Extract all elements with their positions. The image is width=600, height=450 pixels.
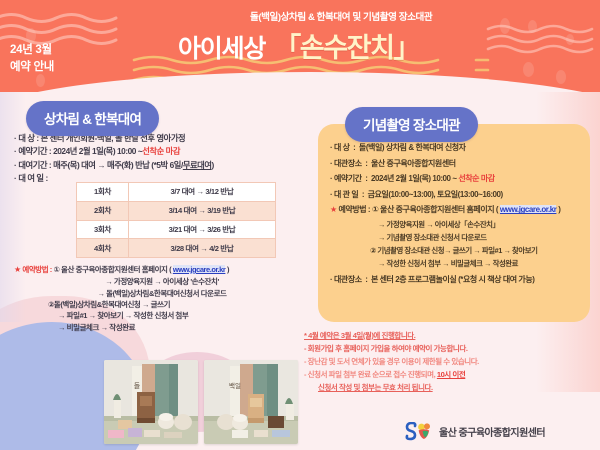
row-label: 대 여 일 bbox=[18, 172, 43, 185]
cell-session: 2회차 bbox=[77, 201, 129, 220]
title-brand: 아이세상 bbox=[178, 29, 265, 65]
row-label: 대 상 bbox=[18, 132, 34, 145]
row-value: 금요일(10:00~13:00), 토요일(13:00~16:00) bbox=[368, 190, 503, 199]
homepage-link[interactable]: www.jgcare.or.kr bbox=[500, 205, 557, 214]
method-step1-pre: ① 울산 중구육아종합지원센터 홈페이지 ( bbox=[372, 205, 498, 214]
method-header-line: ★ 예약방법 : ① 울산 중구육아종합지원센터 홈페이지 ( www.jgca… bbox=[330, 202, 588, 218]
row-sep: : bbox=[363, 275, 369, 284]
notice-list: * 4월 예약은 3월 4일(월)에 진행합니다. - 회원가입 후 홈페이지 … bbox=[304, 330, 594, 394]
decorative-wave-lines bbox=[486, 22, 600, 56]
decorative-dot bbox=[556, 70, 566, 84]
poster-subtitle: 돌(백일)상차림 & 한복대여 및 기념촬영 장소대관 bbox=[250, 9, 432, 23]
method-line: → 비밀글체크 → 작성완료 bbox=[14, 322, 310, 333]
cell-session: 4회차 bbox=[77, 239, 129, 258]
method-step1-post: ) bbox=[558, 205, 560, 214]
row-value: 2024년 2월 1일(목) 10:00 ~ bbox=[371, 174, 458, 183]
bullet-dot: · bbox=[14, 159, 16, 172]
notice-text: * 4월 예약은 3월 4일(월)에 진행합니다. bbox=[304, 331, 415, 340]
row-value-highlight: 선착순 마감 bbox=[142, 145, 180, 158]
photo-2-graphic: 백일 bbox=[204, 360, 298, 444]
cell-period: 3/14 대여 → 3/19 반납 bbox=[129, 201, 276, 220]
svg-text:돌: 돌 bbox=[134, 382, 141, 390]
row-value: 본 센터 2층 프로그램놀이실 (*요청 시 책상 대여 가능) bbox=[371, 275, 534, 284]
bullet-dot: · bbox=[14, 132, 16, 145]
date-line-1: 24년 3월 bbox=[10, 42, 54, 59]
left-panel-content: · 대 상 : 본 센터 개인회원-백일, 돌 한달 전후 영아가정 · 예약기… bbox=[14, 132, 310, 186]
notice-item: - 신청서 파일 첨부 완료 순으로 접수 진행되며, 10시 이전 bbox=[304, 369, 594, 382]
star-icon: ★ bbox=[14, 265, 21, 274]
bullet-dot: · bbox=[330, 143, 332, 152]
table-row: 1회차 3/7 대여 → 3/12 반납 bbox=[77, 183, 276, 202]
row-sep: : bbox=[360, 190, 366, 199]
method-line: → 파일#1 → 찾아보기 → 작성한 신청서 첨부 bbox=[14, 310, 310, 321]
row-value: 울산 중구육아종합지원센터 bbox=[371, 159, 456, 168]
bullet-dot: · bbox=[330, 174, 332, 183]
method-line: → 돌(백일)상차림&한복대여신청서 다운로드 bbox=[14, 288, 310, 299]
method-line: ② 기념촬영 장소대관 신청→ 글쓰기 → 파일#1 → 찾아보기 bbox=[330, 244, 588, 257]
bullet-dot: · bbox=[330, 190, 332, 199]
row-label: 대 관 일 bbox=[334, 190, 358, 199]
bullet-dot: · bbox=[14, 172, 16, 185]
decorative-tick-lines bbox=[474, 54, 490, 84]
bullet-dot: · bbox=[14, 145, 16, 158]
list-item: · 예약기간 : 2024년 2월 1일(목) 10:00 ~ 선착순 마감 bbox=[330, 171, 588, 187]
list-item: · 대여기간 : 매주(목) 대여 → 매주(화) 반납 (*5박 6일/ 무료… bbox=[14, 159, 310, 172]
date-line-2: 예약 안내 bbox=[10, 59, 54, 76]
notice-highlight: 10시 이전 bbox=[437, 370, 465, 379]
method-step1-pre: ① 울산 중구육아종합지원센터 홈페이지 ( bbox=[54, 265, 172, 274]
method-line: → 기념촬영 장소대관 신청서 다운로드 bbox=[330, 231, 588, 244]
star-icon: ★ bbox=[330, 205, 337, 214]
row-label: 대관장소 bbox=[334, 275, 362, 284]
notice-item: 신청서 작성 및 첨부는 무효 처리 됩니다. bbox=[304, 382, 594, 395]
row-sep: : bbox=[363, 159, 369, 168]
row-sep: : bbox=[44, 172, 50, 185]
photo-1-graphic: 돌 bbox=[104, 360, 198, 444]
center-name: 울산 중구육아종합지원센터 bbox=[439, 424, 545, 439]
svg-text:백일: 백일 bbox=[229, 381, 241, 390]
footer-logo: 울산 중구육아종합지원센터 bbox=[404, 422, 545, 441]
row-value-tail: ) bbox=[212, 159, 214, 172]
row-value-highlight: 선착순 마감 bbox=[458, 174, 494, 183]
row-sep: : bbox=[363, 174, 369, 183]
row-label: 대여기간 bbox=[18, 159, 47, 172]
date-block: 24년 3월 예약 안내 bbox=[10, 42, 54, 75]
rental-schedule-table: 1회차 3/7 대여 → 3/12 반납 2회차 3/14 대여 → 3/19 … bbox=[76, 182, 276, 258]
decorative-dot bbox=[523, 62, 534, 77]
row-value-underline: 무료대여 bbox=[183, 159, 212, 172]
title-program: 「손수잔치」 bbox=[274, 26, 419, 65]
poster-root: 24년 3월 예약 안내 돌(백일)상차림 & 한복대여 및 기념촬영 장소대관… bbox=[0, 0, 600, 450]
cell-period: 3/28 대여 → 4/2 반납 bbox=[129, 239, 276, 258]
cell-period: 3/21 대여 → 3/26 반납 bbox=[129, 220, 276, 239]
notice-item: - 장난감 및 도서 연체가 있을 경우 이용이 제한될 수 있습니다. bbox=[304, 356, 594, 369]
rental-schedule-table-wrap: 1회차 3/7 대여 → 3/12 반납 2회차 3/14 대여 → 3/19 … bbox=[76, 182, 276, 258]
bullet-dot: · bbox=[330, 159, 332, 168]
table-row: 2회차 3/14 대여 → 3/19 반납 bbox=[77, 201, 276, 220]
bullet-dot: · bbox=[330, 275, 332, 284]
method-header-line: ★ 예약방법 : ① 울산 중구육아종합지원센터 홈페이지 ( www.jgca… bbox=[14, 264, 310, 276]
poster-title: 아이세상 「손수잔치」 bbox=[178, 26, 419, 65]
method-step1-post: ) bbox=[227, 265, 229, 274]
row-value: 돌(백일) 상차림 & 한복대여 신청자 bbox=[359, 143, 466, 152]
decorative-wave-lines bbox=[0, 10, 144, 46]
list-item: · 대관장소 : 본 센터 2층 프로그램놀이실 (*요청 시 책상 대여 가능… bbox=[330, 271, 588, 289]
section-heading-rental: 상차림 & 한복대여 bbox=[26, 101, 159, 136]
decorative-dot bbox=[36, 74, 45, 87]
method-line: → 가정양육지원 → 아이세상「손수잔치」 bbox=[330, 218, 588, 231]
row-value: 2024년 2월 1일(목) 10:00 ~ bbox=[53, 145, 142, 158]
row-sep: : bbox=[351, 143, 357, 152]
table-row: 4회차 3/28 대여 → 4/2 반납 bbox=[77, 239, 276, 258]
right-panel-content: · 대 상 : 돌(백일) 상차림 & 한복대여 신청자 · 대관장소 : 울산… bbox=[330, 140, 588, 289]
sc-logo-icon bbox=[404, 422, 434, 441]
section-heading-venue: 기념촬영 장소대관 bbox=[345, 107, 478, 142]
photo-table-setting-2: 백일 bbox=[204, 360, 298, 444]
cell-session: 1회차 bbox=[77, 183, 129, 202]
notice-item: * 4월 예약은 3월 4일(월)에 진행합니다. bbox=[304, 330, 594, 343]
decorative-dot bbox=[480, 80, 489, 92]
table-row: 3회차 3/21 대여 → 3/26 반납 bbox=[77, 220, 276, 239]
cell-period: 3/7 대여 → 3/12 반납 bbox=[129, 183, 276, 202]
method-line: → 가정양육지원 → 아이세상 '손수잔치' bbox=[14, 276, 310, 287]
method-line: → 작성한 신청서 첨부 → 비밀글체크 → 작성완료 bbox=[330, 257, 588, 270]
row-label: 예약기간 bbox=[18, 145, 47, 158]
notice-text: - 신청서 파일 첨부 완료 순으로 접수 진행되며, bbox=[304, 370, 437, 379]
row-label: 대관장소 bbox=[334, 159, 362, 168]
method-line: ②돌(백일)상차림&한복대여신청 → 글쓰기 bbox=[14, 299, 310, 310]
method-label: 예약방법 : bbox=[22, 265, 51, 274]
homepage-link[interactable]: www.jgcare.or.kr bbox=[173, 265, 226, 274]
notice-text: 신청서 작성 및 첨부는 무효 처리 됩니다. bbox=[318, 383, 433, 392]
list-item: · 대 상 : 돌(백일) 상차림 & 한복대여 신청자 bbox=[330, 140, 588, 156]
list-item: · 예약기간 : 2024년 2월 1일(목) 10:00 ~ 선착순 마감 bbox=[14, 145, 310, 158]
left-reservation-method: ★ 예약방법 : ① 울산 중구육아종합지원센터 홈페이지 ( www.jgca… bbox=[14, 264, 310, 333]
row-value: 매주(목) 대여 → 매주(화) 반납 (*5박 6일/ bbox=[53, 159, 183, 172]
list-item: · 대 관 일 : 금요일(10:00~13:00), 토요일(13:00~16… bbox=[330, 187, 588, 203]
row-label: 예약기간 bbox=[334, 174, 362, 183]
list-item: · 대관장소 : 울산 중구육아종합지원센터 bbox=[330, 156, 588, 172]
cell-session: 3회차 bbox=[77, 220, 129, 239]
notice-item: - 회원가입 후 홈페이지 가입을 하여야 예약이 가능합니다. bbox=[304, 343, 594, 356]
method-label: 예약방법 : bbox=[339, 205, 371, 214]
photo-table-setting-1: 돌 bbox=[104, 360, 198, 444]
row-label: 대 상 bbox=[334, 143, 350, 152]
